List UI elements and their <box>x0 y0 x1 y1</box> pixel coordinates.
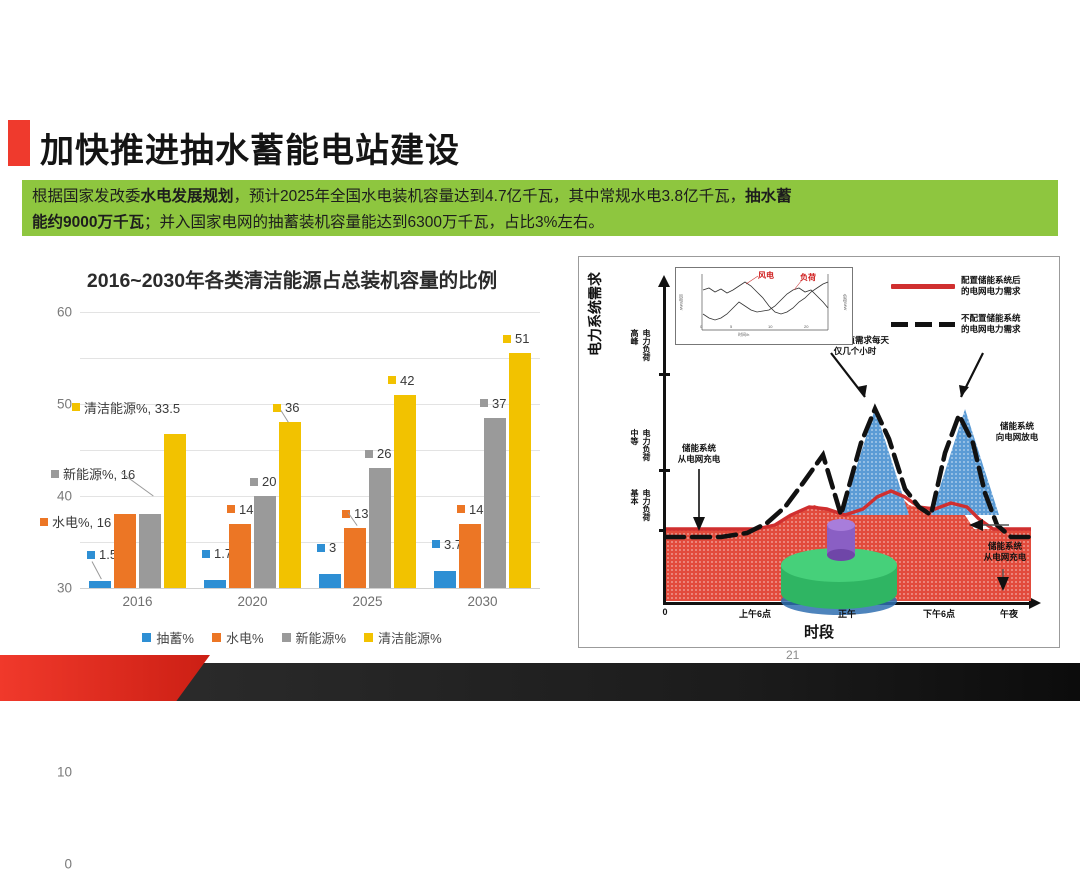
chart-bar[interactable] <box>369 468 391 588</box>
legend-solid-line-icon <box>891 284 955 289</box>
chart-label-swatch <box>480 399 488 407</box>
inset-xtick-0: 0 <box>700 324 702 329</box>
chart-label-swatch <box>40 518 48 526</box>
chart-data-label: 14 <box>227 502 253 517</box>
chart-bar-group: 3.7143751 <box>425 312 540 588</box>
chart-x-tick-label: 2030 <box>467 594 497 609</box>
inset-chart: 风电 负荷 时间/h 风电/MW 负荷/MW 0 5 10 20 <box>675 267 853 345</box>
diagram-legend-item-dashed: 不配置储能系统 的电网电力需求 <box>891 313 1021 335</box>
chart-legend-swatch <box>142 633 151 642</box>
chart-data-label: 51 <box>503 331 529 346</box>
chart-bar-group: 1.7142036 <box>195 312 310 588</box>
annotation-charge-right: 储能系统 从电网充电 <box>965 541 1045 563</box>
inset-series-wind-label: 风电 <box>758 270 774 281</box>
legend-solid-line2: 的电网电力需求 <box>961 286 1021 297</box>
chart-bar-group: 3132642 <box>310 312 425 588</box>
legend-dashed-line2: 的电网电力需求 <box>961 324 1021 335</box>
legend-solid-line1: 配置储能系统后 <box>961 275 1021 286</box>
chart-legend: 抽蓄%水电%新能源%清洁能源% <box>22 628 562 647</box>
chart-data-label: 14 <box>457 502 483 517</box>
chart-data-label-text: 36 <box>285 400 299 415</box>
chart-label-swatch <box>388 376 396 384</box>
chart-label-leader-line <box>92 561 102 579</box>
chart-label-leader-line <box>121 472 154 496</box>
chart-bar[interactable] <box>229 524 251 588</box>
inset-ylabel-left: 风电/MW <box>678 294 684 310</box>
chart-bar[interactable] <box>139 514 161 588</box>
chart-label-swatch <box>365 450 373 458</box>
chart-label-swatch <box>227 505 235 513</box>
annotation-discharge-line1: 储能系统 <box>977 421 1057 432</box>
summary-banner: 根据国家发改委水电发展规划，预计2025年全国水电装机容量达到4.7亿千瓦，其中… <box>22 180 1058 236</box>
chart-legend-swatch <box>212 633 221 642</box>
chart-legend-item[interactable]: 清洁能源% <box>364 628 442 647</box>
bar-chart-panel: 2016~2030年各类清洁能源占总装机容量的比例 0102030405060 … <box>22 256 562 648</box>
chart-bar[interactable] <box>484 418 506 588</box>
chart-bar[interactable] <box>459 524 481 588</box>
annotation-charge-right-line2: 从电网充电 <box>965 552 1045 563</box>
legend-dashed-text: 不配置储能系统 的电网电力需求 <box>961 313 1021 335</box>
chart-data-label: 20 <box>250 474 276 489</box>
banner-text-2a: 能约9000万千瓦 <box>32 214 144 231</box>
diagram-x-tick-label: 上午6点 <box>739 607 771 620</box>
chart-bar[interactable] <box>204 580 226 588</box>
chart-data-label: 42 <box>388 373 414 388</box>
chart-baseline <box>80 588 540 589</box>
legend-dashed-line1: 不配置储能系统 <box>961 313 1021 324</box>
chart-x-tick-label: 2025 <box>352 594 382 609</box>
chart-x-tick-label: 2016 <box>122 594 152 609</box>
chart-legend-label: 抽蓄% <box>156 628 194 647</box>
chart-bar[interactable] <box>89 581 111 588</box>
chart-legend-item[interactable]: 抽蓄% <box>142 628 194 647</box>
chart-data-label-text: 13 <box>354 506 368 521</box>
chart-legend-item[interactable]: 水电% <box>212 628 264 647</box>
chart-bar[interactable] <box>319 574 341 588</box>
banner-text-1a: 根据国家发改委 <box>32 188 141 205</box>
chart-data-label: 13 <box>342 506 368 521</box>
inset-xtick-3: 20 <box>804 324 808 329</box>
chart-y-tick-label: 60 <box>57 305 72 320</box>
chart-data-label: 3.7 <box>432 537 462 552</box>
chart-legend-swatch <box>282 633 291 642</box>
diagram-x-tick-label: 下午6点 <box>923 607 955 620</box>
chart-data-label-text: 水电%, 16 <box>52 512 111 531</box>
chart-data-label-text: 3 <box>329 540 336 555</box>
chart-data-label-text: 26 <box>377 446 391 461</box>
chart-data-label: 清洁能源%, 33.5 <box>72 398 180 417</box>
storage-device-icon <box>765 503 925 623</box>
inset-xtick-2: 10 <box>768 324 772 329</box>
slide-root: 加快推进抽水蓄能电站建设 根据国家发改委水电发展规划，预计2025年全国水电装机… <box>0 0 1080 763</box>
chart-data-label: 36 <box>273 400 299 415</box>
diagram-legend-item-solid: 配置储能系统后 的电网电力需求 <box>891 275 1021 297</box>
chart-label-swatch <box>317 544 325 552</box>
banner-line-1: 根据国家发改委水电发展规划，预计2025年全国水电装机容量达到4.7亿千瓦，其中… <box>32 184 1048 210</box>
chart-x-tick-label: 2020 <box>237 594 267 609</box>
chart-bar-group: 1.5水电%, 16新能源%, 16清洁能源%, 33.5 <box>80 312 195 588</box>
diagram-x-tick-label: 午夜 <box>1000 607 1018 620</box>
chart-label-swatch <box>457 505 465 513</box>
chart-data-label-text: 20 <box>262 474 276 489</box>
chart-data-label-text: 清洁能源%, 33.5 <box>84 398 180 417</box>
chart-bar[interactable] <box>164 434 186 588</box>
chart-bar[interactable] <box>344 528 366 588</box>
chart-bar[interactable] <box>394 395 416 588</box>
annotation-charge-left-line2: 从电网充电 <box>663 454 735 465</box>
chart-bar[interactable] <box>254 496 276 588</box>
legend-dashed-line-icon <box>891 322 955 327</box>
banner-text-1d: 抽水蓄 <box>745 188 792 205</box>
chart-label-swatch <box>51 470 59 478</box>
chart-label-swatch <box>503 335 511 343</box>
chart-label-swatch <box>250 478 258 486</box>
chart-legend-label: 清洁能源% <box>378 628 442 647</box>
chart-legend-label: 水电% <box>226 628 264 647</box>
chart-data-label: 1.7 <box>202 546 232 561</box>
legend-solid-text: 配置储能系统后 的电网电力需求 <box>961 275 1021 297</box>
chart-label-swatch <box>432 540 440 548</box>
chart-y-tick-label: 0 <box>64 857 72 872</box>
chart-label-swatch <box>87 551 95 559</box>
chart-data-label: 3 <box>317 540 336 555</box>
chart-label-swatch <box>202 550 210 558</box>
banner-text-1b: 水电发展规划 <box>141 188 234 205</box>
chart-data-label-text: 14 <box>469 502 483 517</box>
chart-data-label: 1.5 <box>87 547 117 562</box>
inset-xtick-1: 5 <box>730 324 732 329</box>
footer-red-bar <box>0 655 210 701</box>
chart-title: 2016~2030年各类清洁能源占总装机容量的比例 <box>22 264 562 293</box>
chart-bar[interactable] <box>114 514 136 588</box>
page-number: 21 <box>786 648 799 662</box>
chart-data-label-text: 14 <box>239 502 253 517</box>
chart-y-tick-label: 50 <box>57 397 72 412</box>
chart-legend-swatch <box>364 633 373 642</box>
annotation-discharge-line2: 向电网放电 <box>977 432 1057 443</box>
inset-series-load-label: 负荷 <box>800 272 816 283</box>
diagram-x-axis-label: 时段 <box>579 621 1059 642</box>
chart-y-tick-label: 40 <box>57 489 72 504</box>
chart-y-tick-label: 30 <box>57 581 72 596</box>
chart-bar-groups: 1.5水电%, 16新能源%, 16清洁能源%, 33.51.714203631… <box>80 312 540 588</box>
chart-legend-item[interactable]: 新能源% <box>282 628 347 647</box>
annotation-charge-left-line1: 储能系统 <box>663 443 735 454</box>
chart-data-label-text: 37 <box>492 396 506 411</box>
inset-xlabel: 时间/h <box>738 332 749 338</box>
chart-data-label: 37 <box>480 396 506 411</box>
page-title: 加快推进抽水蓄能电站建设 <box>40 123 460 172</box>
chart-data-label: 水电%, 16 <box>40 512 111 531</box>
annotation-charge-right-line1: 储能系统 <box>965 541 1045 552</box>
diagram-x-tick-label: 正午 <box>838 607 856 620</box>
annotation-peak-line2: 仅几个小时 <box>795 346 915 357</box>
chart-legend-label: 新能源% <box>296 628 347 647</box>
banner-text-1c: ，预计2025年全国水电装机容量达到4.7亿千瓦，其中常规水电3.8亿千瓦， <box>234 188 746 205</box>
inset-ylabel-right: 负荷/MW <box>842 294 848 310</box>
chart-bar[interactable] <box>509 353 531 588</box>
chart-bar[interactable] <box>434 571 456 588</box>
chart-data-label-text: 51 <box>515 331 529 346</box>
title-accent-bar <box>8 120 30 166</box>
annotation-discharge: 储能系统 向电网放电 <box>977 421 1057 443</box>
chart-y-tick-label: 10 <box>57 765 72 780</box>
chart-data-label: 26 <box>365 446 391 461</box>
banner-text-2b: ；并入国家电网的抽蓄装机容量能达到6300万千瓦，占比3%左右。 <box>144 214 604 231</box>
chart-bar[interactable] <box>279 422 301 588</box>
storage-diagram-panel: 电力系统需求 高峰 电力负荷 中等 电力负荷 基本 电力负荷 <box>578 256 1060 648</box>
chart-data-label-text: 42 <box>400 373 414 388</box>
diagram-x-tick-label: 0 <box>662 607 667 617</box>
chart-label-swatch <box>72 403 80 411</box>
banner-line-2: 能约9000万千瓦；并入国家电网的抽蓄装机容量能达到6300万千瓦，占比3%左右… <box>32 210 1048 236</box>
annotation-charge-left: 储能系统 从电网充电 <box>663 443 735 465</box>
